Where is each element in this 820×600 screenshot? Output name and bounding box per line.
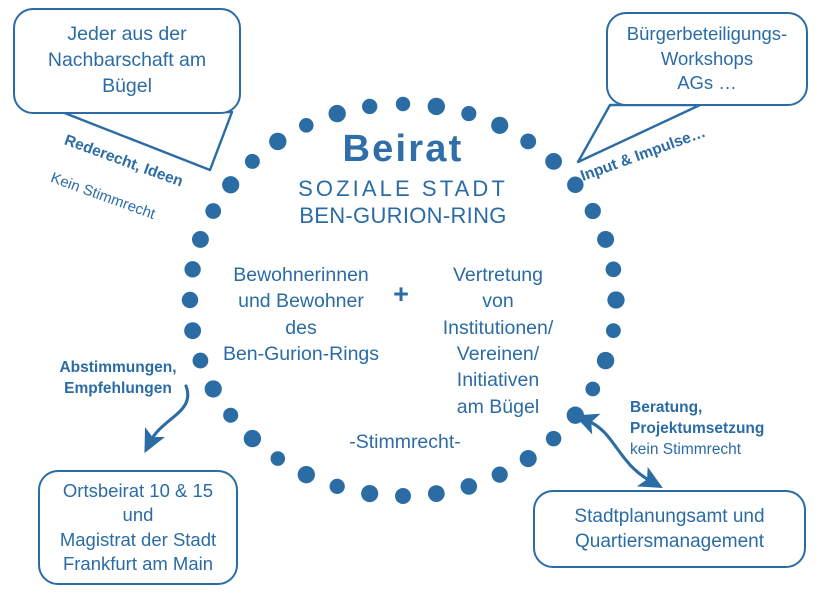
bubble-ortsbeirat-label: Ortsbeirat 10 & 15 und Magistrat der Sta… bbox=[52, 479, 224, 577]
bubble-stadtplanungsamt[interactable]: Stadtplanungsamt und Quartiersmanagement bbox=[533, 490, 806, 568]
bubble-workshops-label: Bürgerbeteiligungs- Workshops AGs … bbox=[619, 22, 795, 95]
subtitle-soziale-stadt: SOZIALE STADT bbox=[253, 176, 553, 202]
bubble-workshops[interactable]: Bürgerbeteiligungs- Workshops AGs … bbox=[606, 12, 808, 106]
bubble-stadtplanungsamt-label: Stadtplanungsamt und Quartiersmanagement bbox=[566, 504, 772, 554]
members-residents: Bewohnerinnen und Bewohner des Ben-Gurio… bbox=[208, 262, 394, 367]
page-title: Beirat bbox=[253, 128, 553, 171]
label-abstimmungen: Abstimmungen, Empfehlungen bbox=[48, 358, 188, 400]
members-institutions: Vertretung von Institutionen/ Vereinen/ … bbox=[418, 262, 578, 420]
plus-icon: + bbox=[386, 279, 416, 310]
voting-rights-note: -Stimmrecht- bbox=[315, 431, 495, 454]
bubble-neighborhood-label: Jeder aus der Nachbarschaft am Bügel bbox=[40, 22, 214, 99]
diagram-canvas: Beirat SOZIALE STADT BEN-GURION-RING Bew… bbox=[0, 0, 820, 600]
subtitle-ben-gurion-ring: BEN-GURION-RING bbox=[253, 203, 553, 229]
label-beratung: Beratung, Projektumsetzung kein Stimmrec… bbox=[630, 398, 810, 460]
label-beratung-line2: Projektumsetzung bbox=[630, 419, 810, 440]
label-beratung-line3: kein Stimmrecht bbox=[630, 440, 810, 461]
label-beratung-line1: Beratung, bbox=[630, 398, 810, 419]
bubble-ortsbeirat[interactable]: Ortsbeirat 10 & 15 und Magistrat der Sta… bbox=[38, 470, 238, 585]
bubble-neighborhood[interactable]: Jeder aus der Nachbarschaft am Bügel bbox=[13, 8, 241, 114]
